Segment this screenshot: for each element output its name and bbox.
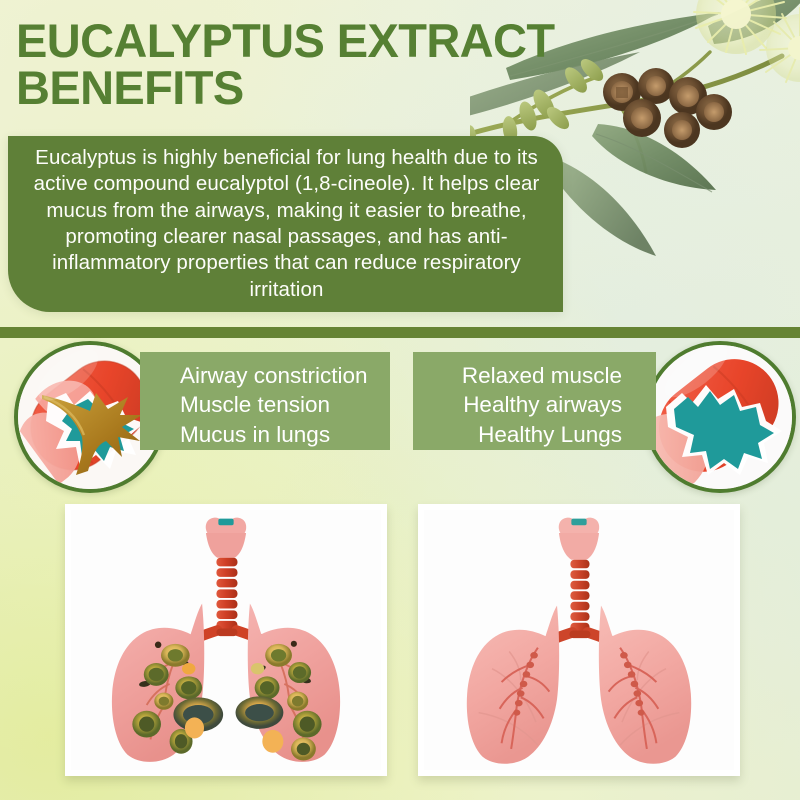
- description-text: Eucalyptus is highly beneficial for lung…: [22, 145, 551, 303]
- unhealthy-label-0: Airway constriction: [180, 361, 376, 390]
- diseased-lungs-panel: [65, 504, 387, 776]
- section-divider: [0, 327, 800, 338]
- description-panel: Eucalyptus is highly beneficial for lung…: [8, 136, 563, 312]
- healthy-label-0: Relaxed muscle: [427, 361, 622, 390]
- healthy-label-box: Relaxed muscle Healthy airways Healthy L…: [413, 352, 656, 450]
- healthy-lungs-panel: [418, 504, 740, 776]
- healthy-label-1: Healthy airways: [427, 390, 622, 419]
- healthy-label-2: Healthy Lungs: [427, 420, 622, 449]
- unhealthy-label-box: Airway constriction Muscle tension Mucus…: [140, 352, 390, 450]
- open-airway-icon: [644, 341, 796, 493]
- infographic-poster: EUCALYPTUS EXTRACT BENEFITS Eucalyptus i…: [0, 0, 800, 800]
- page-title: EUCALYPTUS EXTRACT BENEFITS: [16, 18, 586, 111]
- unhealthy-label-2: Mucus in lungs: [180, 420, 376, 449]
- unhealthy-label-1: Muscle tension: [180, 390, 376, 419]
